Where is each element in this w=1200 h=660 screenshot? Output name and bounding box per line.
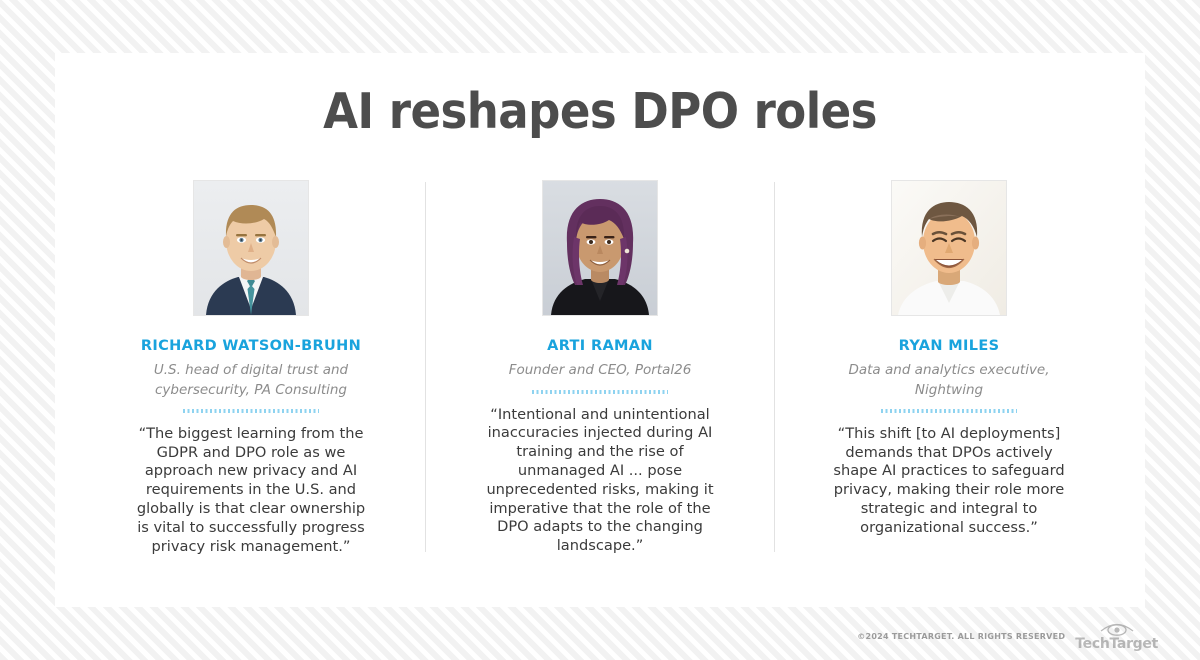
portrait-arti-raman-svg: [543, 181, 657, 315]
dotted-divider-2: [532, 390, 668, 394]
quote-columns: RICHARD WATSON-BRUHN U.S. head of digita…: [77, 180, 1123, 556]
portrait-photo-2: [542, 180, 658, 316]
person-role-3: Data and analytics executive, Nightwing: [842, 361, 1057, 399]
quote-column-3: RYAN MILES Data and analytics executive,…: [775, 180, 1123, 556]
techtarget-logo: TechTarget: [1075, 621, 1158, 651]
infographic-page: AI reshapes DPO roles: [0, 0, 1200, 660]
person-quote-1: “The biggest learning from the GDPR and …: [135, 425, 367, 557]
dotted-divider-1: [183, 409, 319, 413]
copyright-text: ©2024 TECHTARGET. ALL RIGHTS RESERVED: [857, 632, 1065, 641]
content-card: AI reshapes DPO roles: [55, 53, 1145, 607]
portrait-ryan-miles-svg: [892, 181, 1006, 315]
person-name-3: RYAN MILES: [899, 338, 1000, 355]
person-quote-3: “This shift [to AI deployments] demands …: [833, 425, 1065, 538]
page-title: AI reshapes DPO roles: [99, 86, 1102, 137]
techtarget-wordmark: TechTarget: [1075, 637, 1158, 651]
footer: ©2024 TECHTARGET. ALL RIGHTS RESERVED Te…: [0, 612, 1200, 660]
eye-icon: [1099, 621, 1135, 636]
person-quote-2: “Intentional and unintentional inaccurac…: [484, 406, 716, 557]
portrait-photo-1: [193, 180, 309, 316]
portrait-richard-watson-bruhn-svg: [194, 181, 308, 315]
portrait-photo-3: [891, 180, 1007, 316]
person-name-2: ARTI RAMAN: [547, 338, 653, 355]
person-role-2: Founder and CEO, Portal26: [509, 361, 692, 380]
person-name-1: RICHARD WATSON-BRUHN: [141, 338, 361, 355]
quote-column-2: ARTI RAMAN Founder and CEO, Portal26 “In…: [426, 180, 774, 556]
person-role-1: U.S. head of digital trust and cybersecu…: [144, 361, 359, 399]
quote-column-1: RICHARD WATSON-BRUHN U.S. head of digita…: [77, 180, 425, 556]
dotted-divider-3: [881, 409, 1017, 413]
